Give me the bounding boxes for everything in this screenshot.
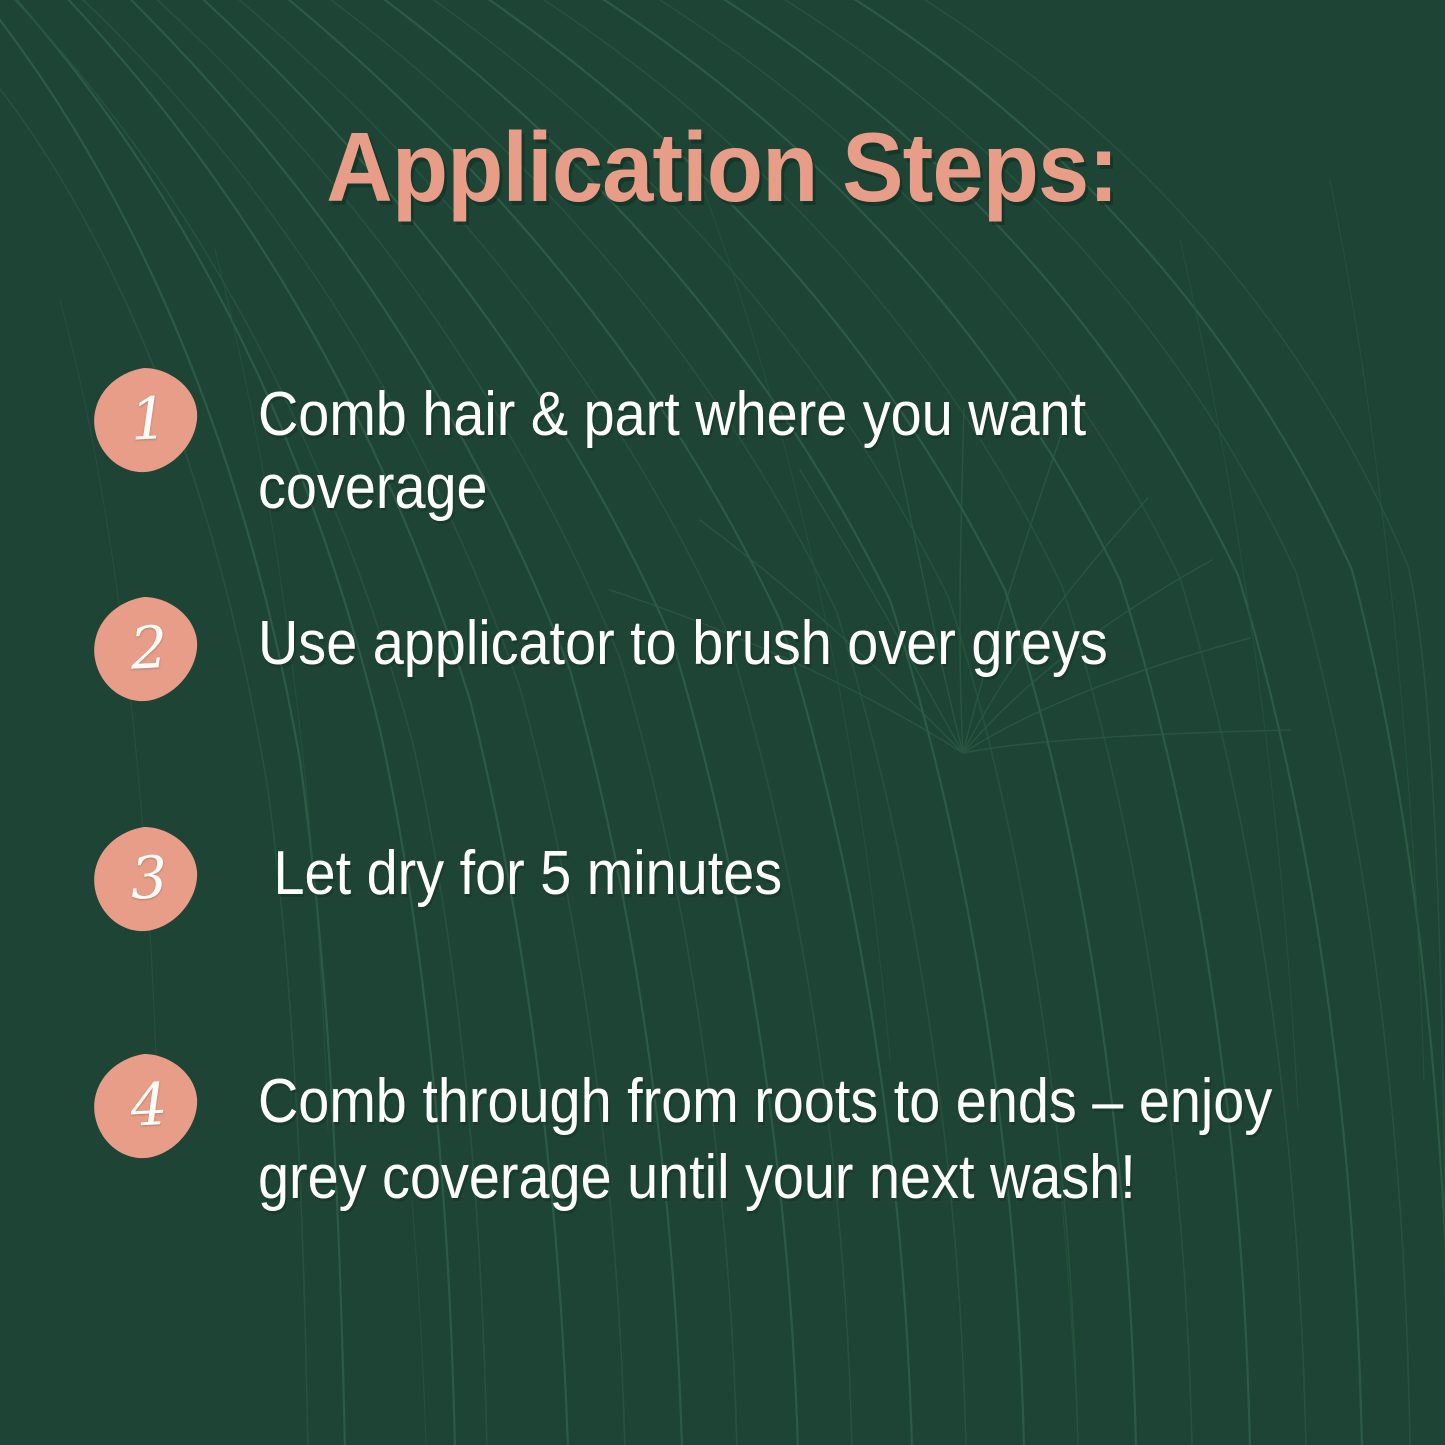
step-number-label: 4 — [89, 1049, 203, 1163]
step-number-label: 2 — [89, 592, 203, 706]
step-item: 1 Comb hair & part where you want covera… — [0, 340, 1445, 570]
step-item: 4 Comb through from roots to ends – enjo… — [0, 1030, 1445, 1260]
step-text: Use applicator to brush over greys — [258, 607, 1326, 680]
step-number-label: 3 — [89, 822, 203, 936]
step-item: 2 Use applicator to brush over greys — [0, 570, 1445, 800]
title-container: Application Steps: — [0, 118, 1445, 216]
application-steps-graphic: Application Steps: 1 Comb hair & part wh… — [0, 0, 1445, 1445]
step-number-label: 1 — [89, 363, 203, 477]
page-title: Application Steps: — [327, 118, 1119, 216]
step-number-badge: 3 — [92, 825, 200, 933]
step-item: 3 Let dry for 5 minutes — [0, 800, 1445, 1030]
step-text: Comb hair & part where you want coverage — [258, 378, 1326, 524]
step-text: Comb through from roots to ends – enjoy … — [258, 1064, 1326, 1215]
steps-list: 1 Comb hair & part where you want covera… — [0, 340, 1445, 1260]
step-number-badge: 4 — [92, 1052, 200, 1160]
step-text: Let dry for 5 minutes — [258, 837, 1326, 910]
step-number-badge: 2 — [92, 595, 200, 703]
step-number-badge: 1 — [92, 366, 200, 474]
